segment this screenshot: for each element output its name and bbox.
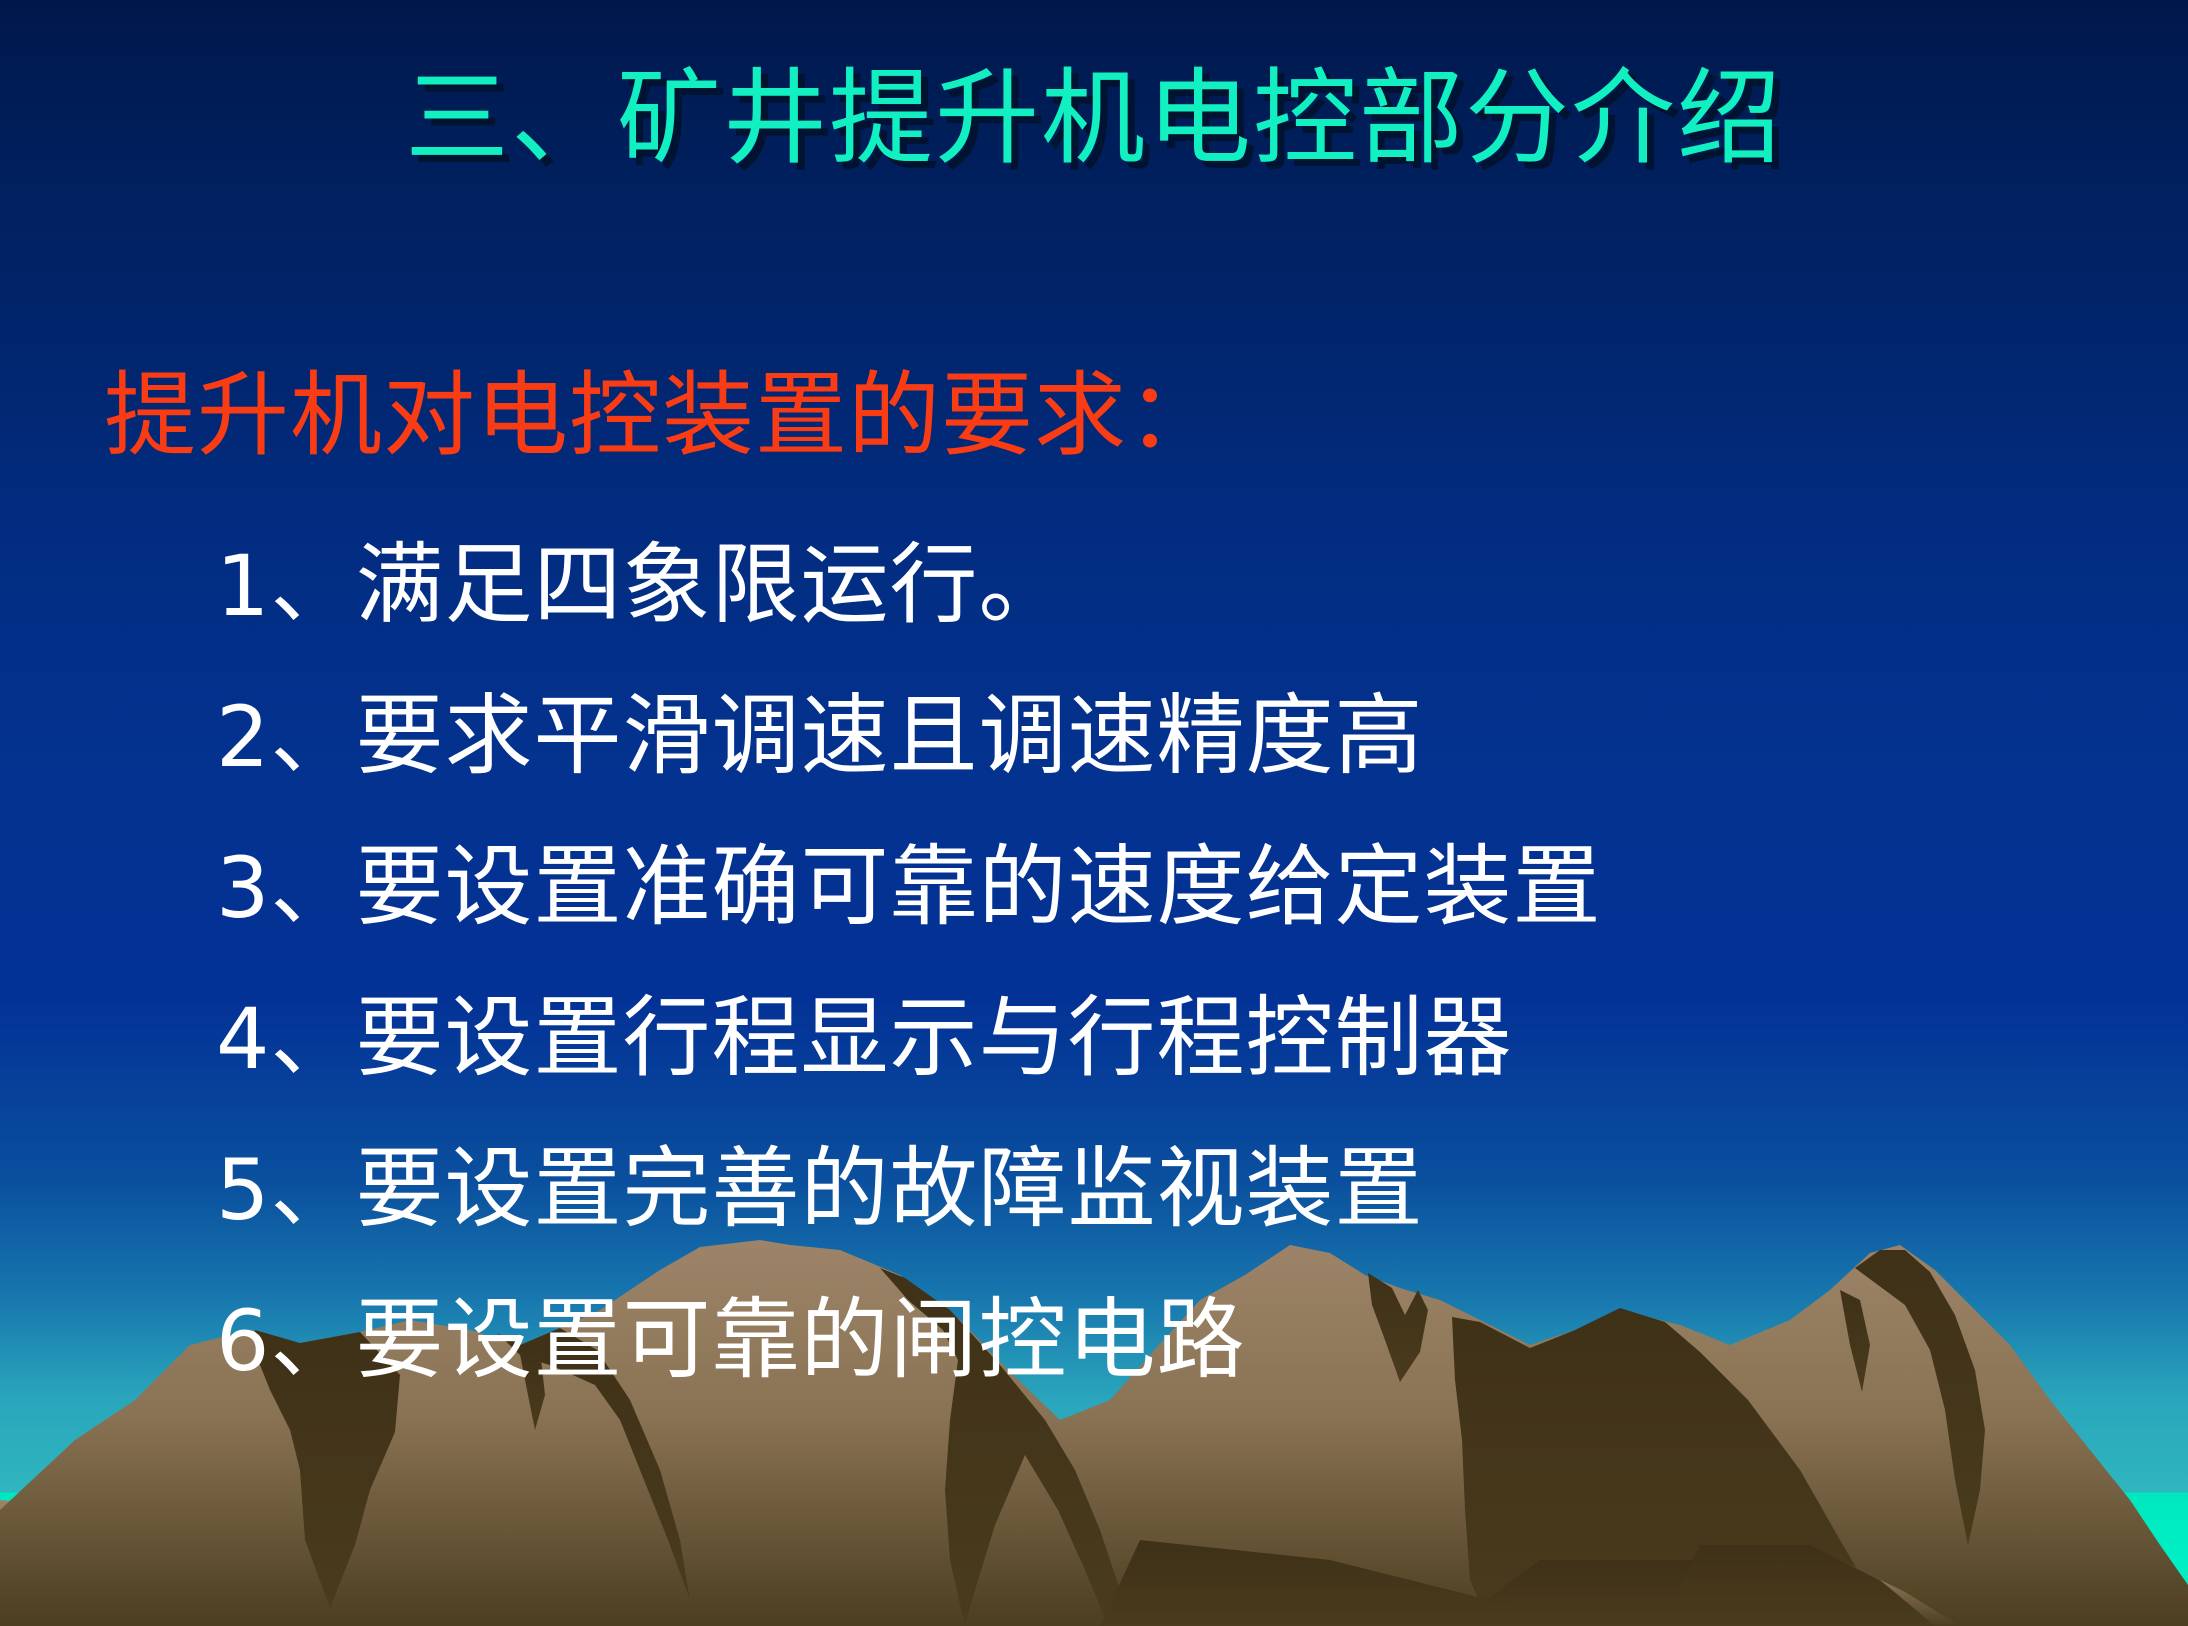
list-item-number: 5、 [216, 1141, 355, 1239]
list-item-text: 要设置准确可靠的速度给定装置 [355, 835, 1601, 938]
list-item: 2、要求平滑调速且调速精度高 [216, 661, 2116, 812]
mountain-right-foreground [1660, 1545, 1960, 1626]
list-item: 5、要设置完善的故障监视装置 [216, 1114, 2116, 1265]
list-item: 6、要设置可靠的闸控电路 [216, 1265, 2116, 1416]
list-item: 3、要设置准确可靠的速度给定装置 [216, 812, 2116, 963]
list-item-text: 满足四象限运行。 [355, 533, 1067, 636]
list-item-number: 2、 [216, 688, 355, 786]
list-item-number: 3、 [216, 839, 355, 937]
list-item-text: 要设置行程显示与行程控制器 [355, 986, 1512, 1089]
list-item-number: 1、 [216, 537, 355, 635]
list-item-text: 要设置完善的故障监视装置 [355, 1137, 1423, 1240]
list-item-number: 6、 [216, 1292, 355, 1390]
list-item-text: 要求平滑调速且调速精度高 [355, 684, 1423, 787]
slide-title: 三、矿井提升机电控部分介绍 [0, 66, 2188, 170]
requirements-list: 1、满足四象限运行。 2、要求平滑调速且调速精度高 3、要设置准确可靠的速度给定… [216, 510, 2116, 1416]
slide-subtitle-requirements-heading: 提升机对电控装置的要求： [104, 370, 1220, 462]
list-item-number: 4、 [216, 990, 355, 1088]
list-item: 1、满足四象限运行。 [216, 510, 2116, 661]
list-item: 4、要设置行程显示与行程控制器 [216, 963, 2116, 1114]
list-item-text: 要设置可靠的闸控电路 [355, 1288, 1245, 1391]
presentation-slide: 三、矿井提升机电控部分介绍 提升机对电控装置的要求： 1、满足四象限运行。 2、… [0, 0, 2188, 1626]
